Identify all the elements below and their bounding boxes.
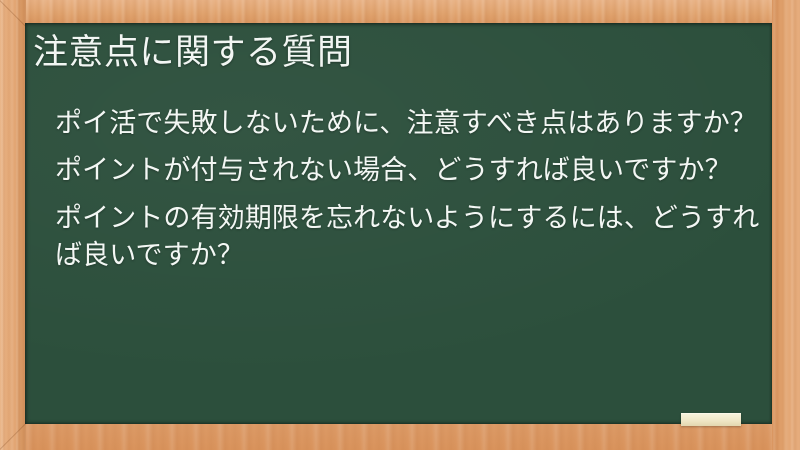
question-item: ポイントが付与されない場合、どうすれば良いですか？ (33, 152, 762, 189)
frame-left-rail (0, 0, 26, 450)
question-list: ポイ活で失敗しないために、注意すべき点はありますか？ ポイントが付与されない場合… (33, 105, 762, 284)
chalkboard-slide: 注意点に関する質問 ポイ活で失敗しないために、注意すべき点はありますか？ ポイン… (0, 0, 800, 450)
chalkboard-surface: 注意点に関する質問 ポイ活で失敗しないために、注意すべき点はありますか？ ポイン… (25, 23, 772, 424)
frame-bottom-rail (0, 424, 800, 450)
question-item: ポイントの有効期限を忘れないようにするには、どうすれば良いですか？ (33, 200, 762, 275)
frame-top-rail (0, 0, 800, 24)
question-item: ポイ活で失敗しないために、注意すべき点はありますか？ (33, 105, 762, 142)
chalk-eraser-icon (681, 413, 741, 426)
frame-right-rail (772, 0, 800, 450)
slide-title: 注意点に関する質問 (33, 31, 764, 75)
